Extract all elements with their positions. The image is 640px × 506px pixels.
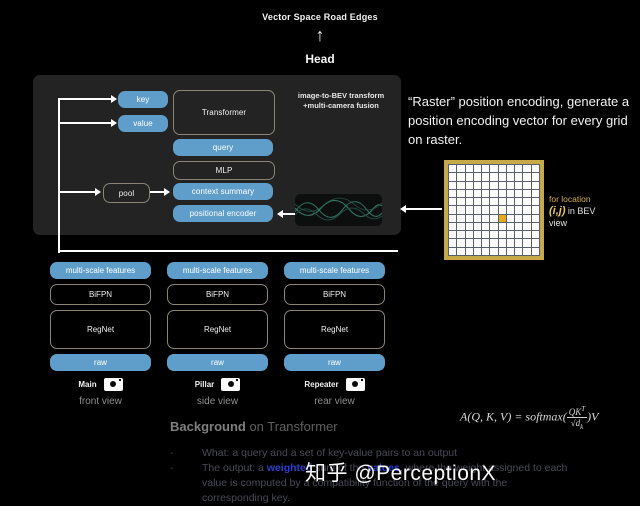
raster-cell [532, 206, 539, 213]
raster-cell [532, 198, 539, 205]
camera-icon [104, 378, 123, 391]
raster-cell [523, 248, 530, 255]
raster-cell [523, 182, 530, 189]
raster-cell [523, 206, 530, 213]
node-pool[interactable]: pool [103, 183, 150, 203]
view-text: view [549, 218, 567, 228]
raster-cell [499, 248, 506, 255]
node-key[interactable]: key [118, 91, 168, 108]
raster-cell [523, 223, 530, 230]
raster-cell [523, 239, 530, 246]
bus-horizontal-connector [58, 250, 398, 252]
arrowhead-context-icon [164, 188, 170, 196]
formula-dk-sub: k [580, 423, 583, 431]
raster-cell [466, 206, 473, 213]
node-value[interactable]: value [118, 115, 168, 132]
regnet-bar[interactable]: RegNet [167, 310, 268, 349]
multi-scale-features-bar[interactable]: multi-scale features [284, 262, 385, 279]
raster-cell [507, 190, 514, 197]
view-label: front view [50, 396, 151, 407]
bifpn-bar[interactable]: BiFPN [167, 284, 268, 305]
raster-cell [507, 248, 514, 255]
raster-cell [474, 173, 481, 180]
raster-cell [490, 231, 497, 238]
raster-cell [490, 215, 497, 222]
raster-cell [449, 215, 456, 222]
raster-cell [490, 206, 497, 213]
bullet-dash: - [170, 446, 202, 461]
formula-lhs: A(Q, K, V) = softmax( [460, 410, 567, 424]
raster-cell [474, 165, 481, 172]
raster-cell [490, 165, 497, 172]
camera-row: Pillar [167, 377, 268, 391]
raster-cell [507, 173, 514, 180]
arrowhead-pool-icon [95, 188, 101, 196]
background-heading-bold: Background [170, 419, 246, 434]
camera-label: Repeater [304, 380, 338, 389]
raster-cell [466, 239, 473, 246]
raster-cell [532, 239, 539, 246]
raster-grid-container [444, 160, 544, 260]
raster-cell [482, 248, 489, 255]
bifpn-bar[interactable]: BiFPN [50, 284, 151, 305]
multi-scale-features-bar[interactable]: multi-scale features [167, 262, 268, 279]
raster-cell [474, 198, 481, 205]
raster-cell [507, 165, 514, 172]
raster-cell [490, 190, 497, 197]
raster-cell [466, 248, 473, 255]
raster-cell [449, 182, 456, 189]
multi-scale-features-bar[interactable]: multi-scale features [50, 262, 151, 279]
raster-cell [457, 206, 464, 213]
camera-icon [346, 378, 365, 391]
raster-cell [457, 223, 464, 230]
raster-cell [523, 173, 530, 180]
camera-row: Main [50, 377, 151, 391]
raster-cell [515, 190, 522, 197]
raster-cell [466, 231, 473, 238]
raster-cell [523, 231, 530, 238]
raster-cell [457, 190, 464, 197]
raster-cell [482, 223, 489, 230]
raster-cell [523, 215, 530, 222]
formula-fraction: QKT √dk [567, 405, 587, 431]
raster-cell [482, 173, 489, 180]
raster-cell [482, 165, 489, 172]
camera-label: Main [78, 380, 96, 389]
raster-cell [466, 173, 473, 180]
ij-coordinate: (i,j) [549, 205, 566, 217]
camera-row: Repeater [284, 377, 385, 391]
bev-transform-panel: key value Transformer query MLP pool con… [33, 75, 401, 235]
connector-to-key [58, 98, 112, 100]
raster-cell [482, 190, 489, 197]
raster-cell [449, 231, 456, 238]
node-positional-encoder[interactable]: positional encoder [173, 205, 273, 222]
vector-space-road-edges-label: Vector Space Road Edges [0, 12, 640, 22]
node-context-summary[interactable]: context summary [173, 183, 273, 200]
head-label: Head [0, 52, 640, 66]
raster-cell [482, 182, 489, 189]
raster-cell [482, 206, 489, 213]
raster-cell [515, 231, 522, 238]
raster-cell [532, 215, 539, 222]
raster-cell [499, 165, 506, 172]
raster-cell [532, 173, 539, 180]
raster-cell [515, 215, 522, 222]
raster-cell [449, 206, 456, 213]
raster-cell [523, 190, 530, 197]
camera-icon [221, 378, 240, 391]
bifpn-bar[interactable]: BiFPN [284, 284, 385, 305]
raster-cell [457, 182, 464, 189]
connector-grid-to-sinusoid [406, 208, 442, 210]
arrowhead-value-icon [111, 119, 117, 127]
raster-cell [474, 231, 481, 238]
camera-label: Pillar [195, 380, 215, 389]
raster-cell [507, 239, 514, 246]
raster-cell [515, 248, 522, 255]
node-mlp[interactable]: MLP [173, 161, 275, 180]
raster-cell [499, 223, 506, 230]
raster-cell [482, 215, 489, 222]
raster-cell [474, 190, 481, 197]
attention-formula: A(Q, K, V) = softmax( QKT √dk )V [460, 405, 640, 431]
connector-to-pool [58, 191, 96, 193]
raster-cell [490, 173, 497, 180]
arrowhead-key-icon [111, 95, 117, 103]
raster-cell [499, 231, 506, 238]
raster-cell [515, 165, 522, 172]
raster-cell [499, 173, 506, 180]
raster-cell [507, 215, 514, 222]
raster-cell [532, 190, 539, 197]
backbone-column-front: multi-scale features BiFPN RegNet raw Ma… [50, 262, 151, 407]
raster-cell [466, 198, 473, 205]
raster-cell [507, 198, 514, 205]
raster-cell [532, 165, 539, 172]
raster-cell [507, 223, 514, 230]
raster-cell [466, 223, 473, 230]
raster-cell [449, 239, 456, 246]
regnet-bar[interactable]: RegNet [50, 310, 151, 349]
raster-cell [490, 239, 497, 246]
raw-bar[interactable]: raw [284, 354, 385, 371]
raster-cell [490, 223, 497, 230]
raster-cell [466, 215, 473, 222]
for-location-caption: for location (i,j) in BEV view [549, 193, 639, 229]
raster-cell [457, 165, 464, 172]
regnet-bar[interactable]: RegNet [284, 310, 385, 349]
raster-cell [499, 198, 506, 205]
view-label: side view [167, 396, 268, 407]
raster-cell [482, 198, 489, 205]
raster-cell [474, 182, 481, 189]
raster-cell [490, 198, 497, 205]
raster-cell [507, 231, 514, 238]
raster-cell [515, 223, 522, 230]
arrowhead-posenc-icon [277, 210, 283, 218]
sinusoidal-encoding-plot [295, 194, 382, 226]
raster-cell [532, 182, 539, 189]
formula-transpose: T [581, 405, 585, 413]
raster-cell [532, 248, 539, 255]
bullet-pre: The output: a [202, 462, 267, 474]
raster-cell [490, 248, 497, 255]
node-transformer[interactable]: Transformer [173, 90, 275, 135]
raster-description: “Raster” position encoding, generate a p… [408, 92, 638, 149]
backbone-column-side: multi-scale features BiFPN RegNet raw Pi… [167, 262, 268, 407]
in-bev-text: in BEV [568, 206, 596, 216]
raster-cell [515, 239, 522, 246]
raster-cell [482, 239, 489, 246]
view-label: rear view [284, 396, 385, 407]
raster-cell [507, 206, 514, 213]
raster-cell-highlighted [499, 215, 506, 222]
raster-cell [449, 173, 456, 180]
raster-cell [490, 182, 497, 189]
raster-cell [449, 248, 456, 255]
raster-cell [515, 198, 522, 205]
raster-cell [474, 223, 481, 230]
connector-to-value [58, 122, 112, 124]
raster-cell [515, 182, 522, 189]
raster-cell [515, 173, 522, 180]
raster-cell [499, 206, 506, 213]
raster-cell [532, 231, 539, 238]
node-query[interactable]: query [173, 139, 273, 156]
raster-cell [474, 239, 481, 246]
raster-cell [474, 215, 481, 222]
background-heading: Background on Transformer [170, 419, 338, 434]
raster-cell [466, 182, 473, 189]
raster-cell [474, 248, 481, 255]
raster-cell [515, 206, 522, 213]
raster-cell [449, 165, 456, 172]
background-heading-rest: on Transformer [246, 419, 338, 434]
raster-cell [449, 223, 456, 230]
formula-numerator: QK [569, 407, 582, 417]
raster-cell [507, 182, 514, 189]
raster-cell [449, 198, 456, 205]
raster-cell [466, 190, 473, 197]
up-arrow-icon: ↑ [0, 26, 640, 44]
raw-bar[interactable]: raw [167, 354, 268, 371]
raster-cell [457, 239, 464, 246]
raster-cell [457, 173, 464, 180]
raster-cell [449, 190, 456, 197]
backbone-column-rear: multi-scale features BiFPN RegNet raw Re… [284, 262, 385, 407]
raster-cell [499, 190, 506, 197]
raster-cell [457, 198, 464, 205]
bullet-dash: - [170, 461, 202, 506]
raster-cell [523, 165, 530, 172]
raster-cell [457, 215, 464, 222]
connector-pool-to-context [150, 191, 164, 193]
raster-cell [523, 198, 530, 205]
raster-grid[interactable] [448, 164, 540, 256]
raster-cell [457, 248, 464, 255]
raster-cell [474, 206, 481, 213]
raster-cell [482, 231, 489, 238]
bus-vertical-connector [58, 99, 60, 252]
raster-cell [466, 165, 473, 172]
raster-cell [499, 239, 506, 246]
raster-cell [532, 223, 539, 230]
raster-cell [499, 182, 506, 189]
bev-transform-caption: image-to-BEV transform +multi-camera fus… [285, 91, 397, 111]
formula-rhs: )V [587, 410, 598, 424]
watermark: 知乎 @PerceptionX [305, 457, 496, 487]
raster-cell [457, 231, 464, 238]
arrowhead-grid-icon [400, 205, 406, 213]
raw-bar[interactable]: raw [50, 354, 151, 371]
for-location-text: for location [549, 194, 591, 204]
